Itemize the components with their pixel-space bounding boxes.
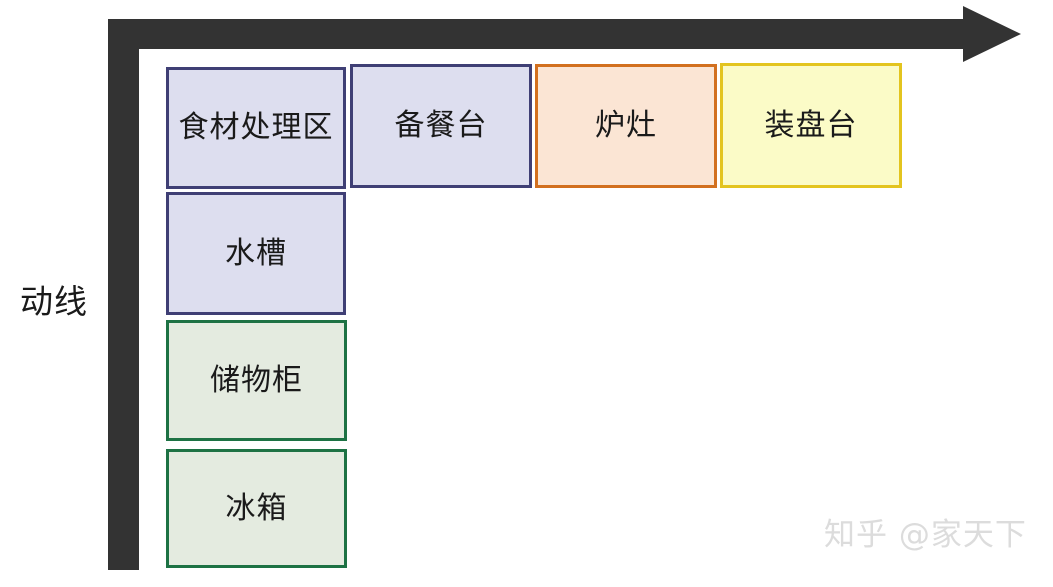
workflow-arrow-vertical-shaft [108, 19, 139, 570]
zone-box-beican-tai: 备餐台 [350, 64, 532, 188]
watermark: 知乎 @家天下 [824, 517, 1027, 553]
workflow-arrow-horizontal-shaft [108, 19, 970, 49]
zone-box-chuwu-gui: 储物柜 [166, 320, 347, 441]
zone-box-shicai-chuli-qu: 食材处理区 [166, 67, 346, 189]
zone-box-luzao: 炉灶 [535, 64, 717, 188]
zone-box-zhuangpan-tai: 装盘台 [720, 63, 902, 188]
flow-line-label: 动线 [20, 283, 88, 321]
workflow-arrow-head-icon [963, 6, 1021, 62]
zone-box-bingxiang: 冰箱 [166, 449, 347, 568]
zone-box-shuicao: 水槽 [166, 192, 346, 315]
diagram-canvas: 动线 食材处理区备餐台炉灶装盘台水槽储物柜冰箱 知乎 @家天下 [0, 0, 1053, 587]
